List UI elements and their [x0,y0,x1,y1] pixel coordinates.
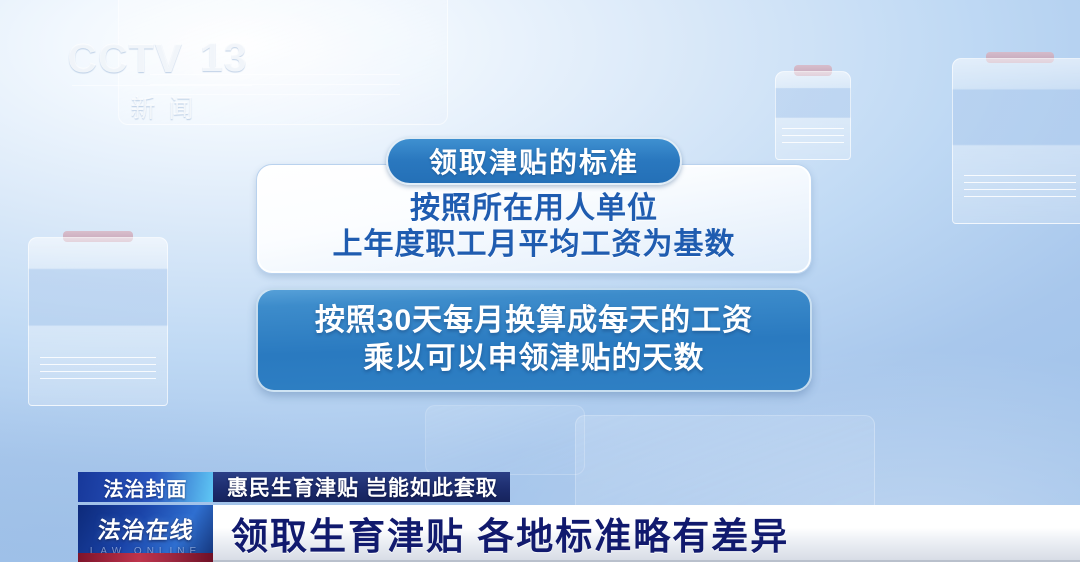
info-card-blue-line2: 乘以可以申领津贴的天数 [364,340,705,378]
ticker-section-tag: 法治封面 [78,472,213,502]
info-card-white-line2: 上年度职工月平均工资为基数 [333,227,736,264]
info-card-blue: 按照30天每月换算成每天的工资 乘以可以申领津贴的天数 [256,288,812,392]
info-card-white-line1: 按照所在用人单位 [410,191,658,228]
clipboard-body [28,237,168,406]
clipboard-icon [775,65,851,160]
headline-bar: 法治在线 LAW ONLINE 领取生育津贴 各地标准略有差异 [78,505,1080,562]
clipboard-lines [964,175,1077,203]
clipboard-lines [40,357,156,385]
ticker-subtitle: 惠民生育津贴 岂能如此套取 [213,472,510,502]
broadcast-stage: CCTV 13 新闻 按照所在用人单位 上年度职工月平均工资为基数 领取津贴的标… [0,0,1080,562]
cctv-logo-text: CCTV [67,38,183,79]
background-ghost-panel [425,405,585,475]
headline-text-bar: 领取生育津贴 各地标准略有差异 [213,505,1080,562]
ticker-bar: 法治封面 惠民生育津贴 岂能如此套取 [78,472,510,502]
headline-text: 领取生育津贴 各地标准略有差异 [231,506,789,560]
cctv-logo-number: 13 [191,36,257,80]
cctv-logo-sub: 新闻 [72,85,252,125]
info-badge: 领取津贴的标准 [386,137,682,185]
cctv-channel-logo: CCTV 13 新闻 [72,36,252,125]
cctv-logo-row: CCTV 13 [72,36,252,80]
clipboard-icon [952,52,1080,224]
clipboard-body [952,58,1080,224]
clipboard-lines [782,128,844,149]
clipboard-icon [28,231,168,406]
program-logo-zh: 法治在线 [96,511,196,545]
info-card-blue-line1: 按照30天每月换算成每天的工资 [315,302,753,340]
program-logo: 法治在线 LAW ONLINE [78,505,213,562]
program-logo-en: LAW ONLINE [90,546,201,557]
clipboard-body [775,71,851,160]
